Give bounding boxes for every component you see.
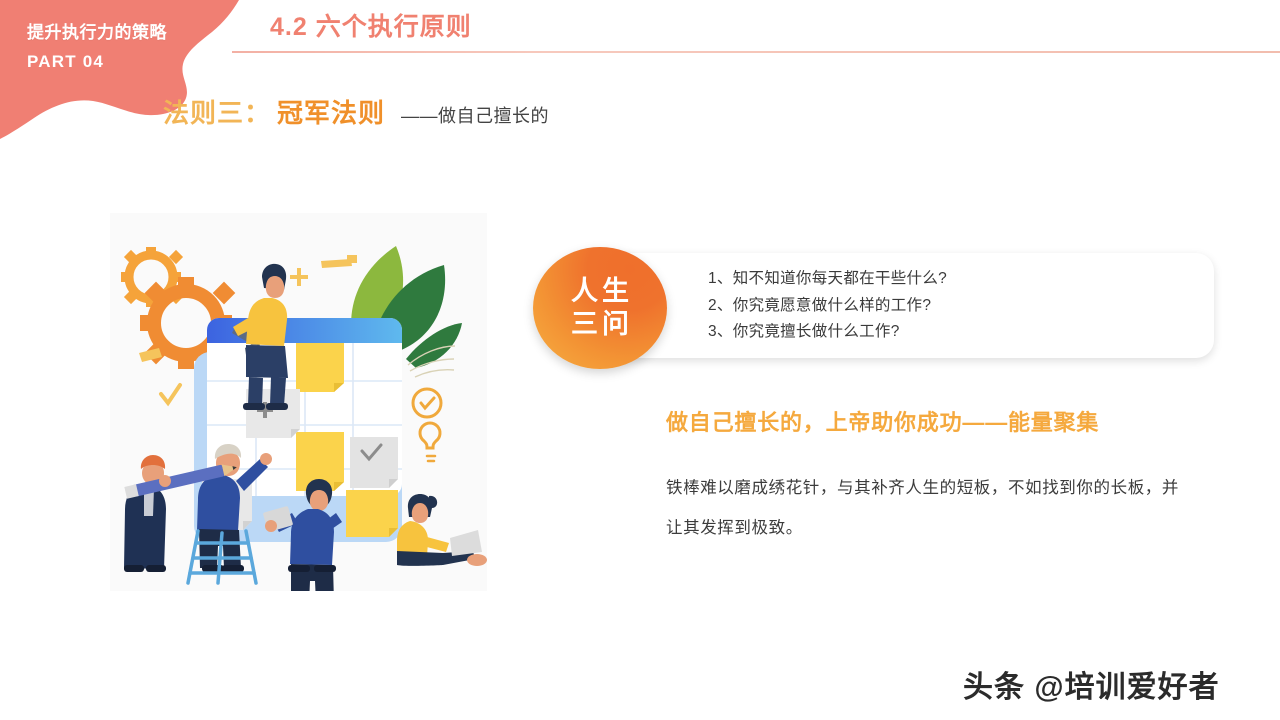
law-heading: 法则三： 冠军法则 ——做自己擅长的 (163, 93, 549, 130)
questions-list: 1、知不知道你每天都在干些什么? 2、你究竟愿意做什么样的工作? 3、你究竟擅长… (708, 266, 1196, 346)
law-name: 冠军法则 (277, 93, 385, 130)
lead-statement: 做自己擅长的，上帝助你成功——能量聚集 (666, 405, 1099, 437)
life-three-questions-badge: 人生 三问 (533, 247, 667, 369)
list-item: 1、知不知道你每天都在干些什么? (708, 266, 1196, 293)
page-title: 4.2 六个执行原则 (270, 7, 472, 43)
part-label: 提升执行力的策略 (27, 20, 167, 46)
part-number: PART 04 (27, 52, 104, 72)
body-paragraph: 铁棒难以磨成绣花针，与其补齐人生的短板，不如找到你的长板，并让其发挥到极致。 (666, 468, 1196, 548)
questions-card: 1、知不知道你每天都在干些什么? 2、你究竟愿意做什么样的工作? 3、你究竟擅长… (604, 253, 1214, 358)
law-prefix: 法则三： (163, 93, 271, 130)
badge-line-2: 三问 (567, 308, 633, 341)
header-divider (232, 51, 1280, 53)
badge-line-1: 人生 (567, 275, 633, 308)
list-item: 3、你究竟擅长做什么工作? (708, 319, 1196, 346)
law-suffix: ——做自己擅长的 (401, 102, 549, 128)
list-item: 2、你究竟愿意做什么样的工作? (708, 293, 1196, 320)
illustration-image (110, 213, 487, 591)
watermark: 头条 @培训爱好者 (963, 662, 1220, 706)
slide-canvas: 提升执行力的策略 PART 04 4.2 六个执行原则 法则三： 冠军法则 ——… (0, 0, 1280, 720)
team-planning-calendar-illustration (110, 213, 487, 591)
